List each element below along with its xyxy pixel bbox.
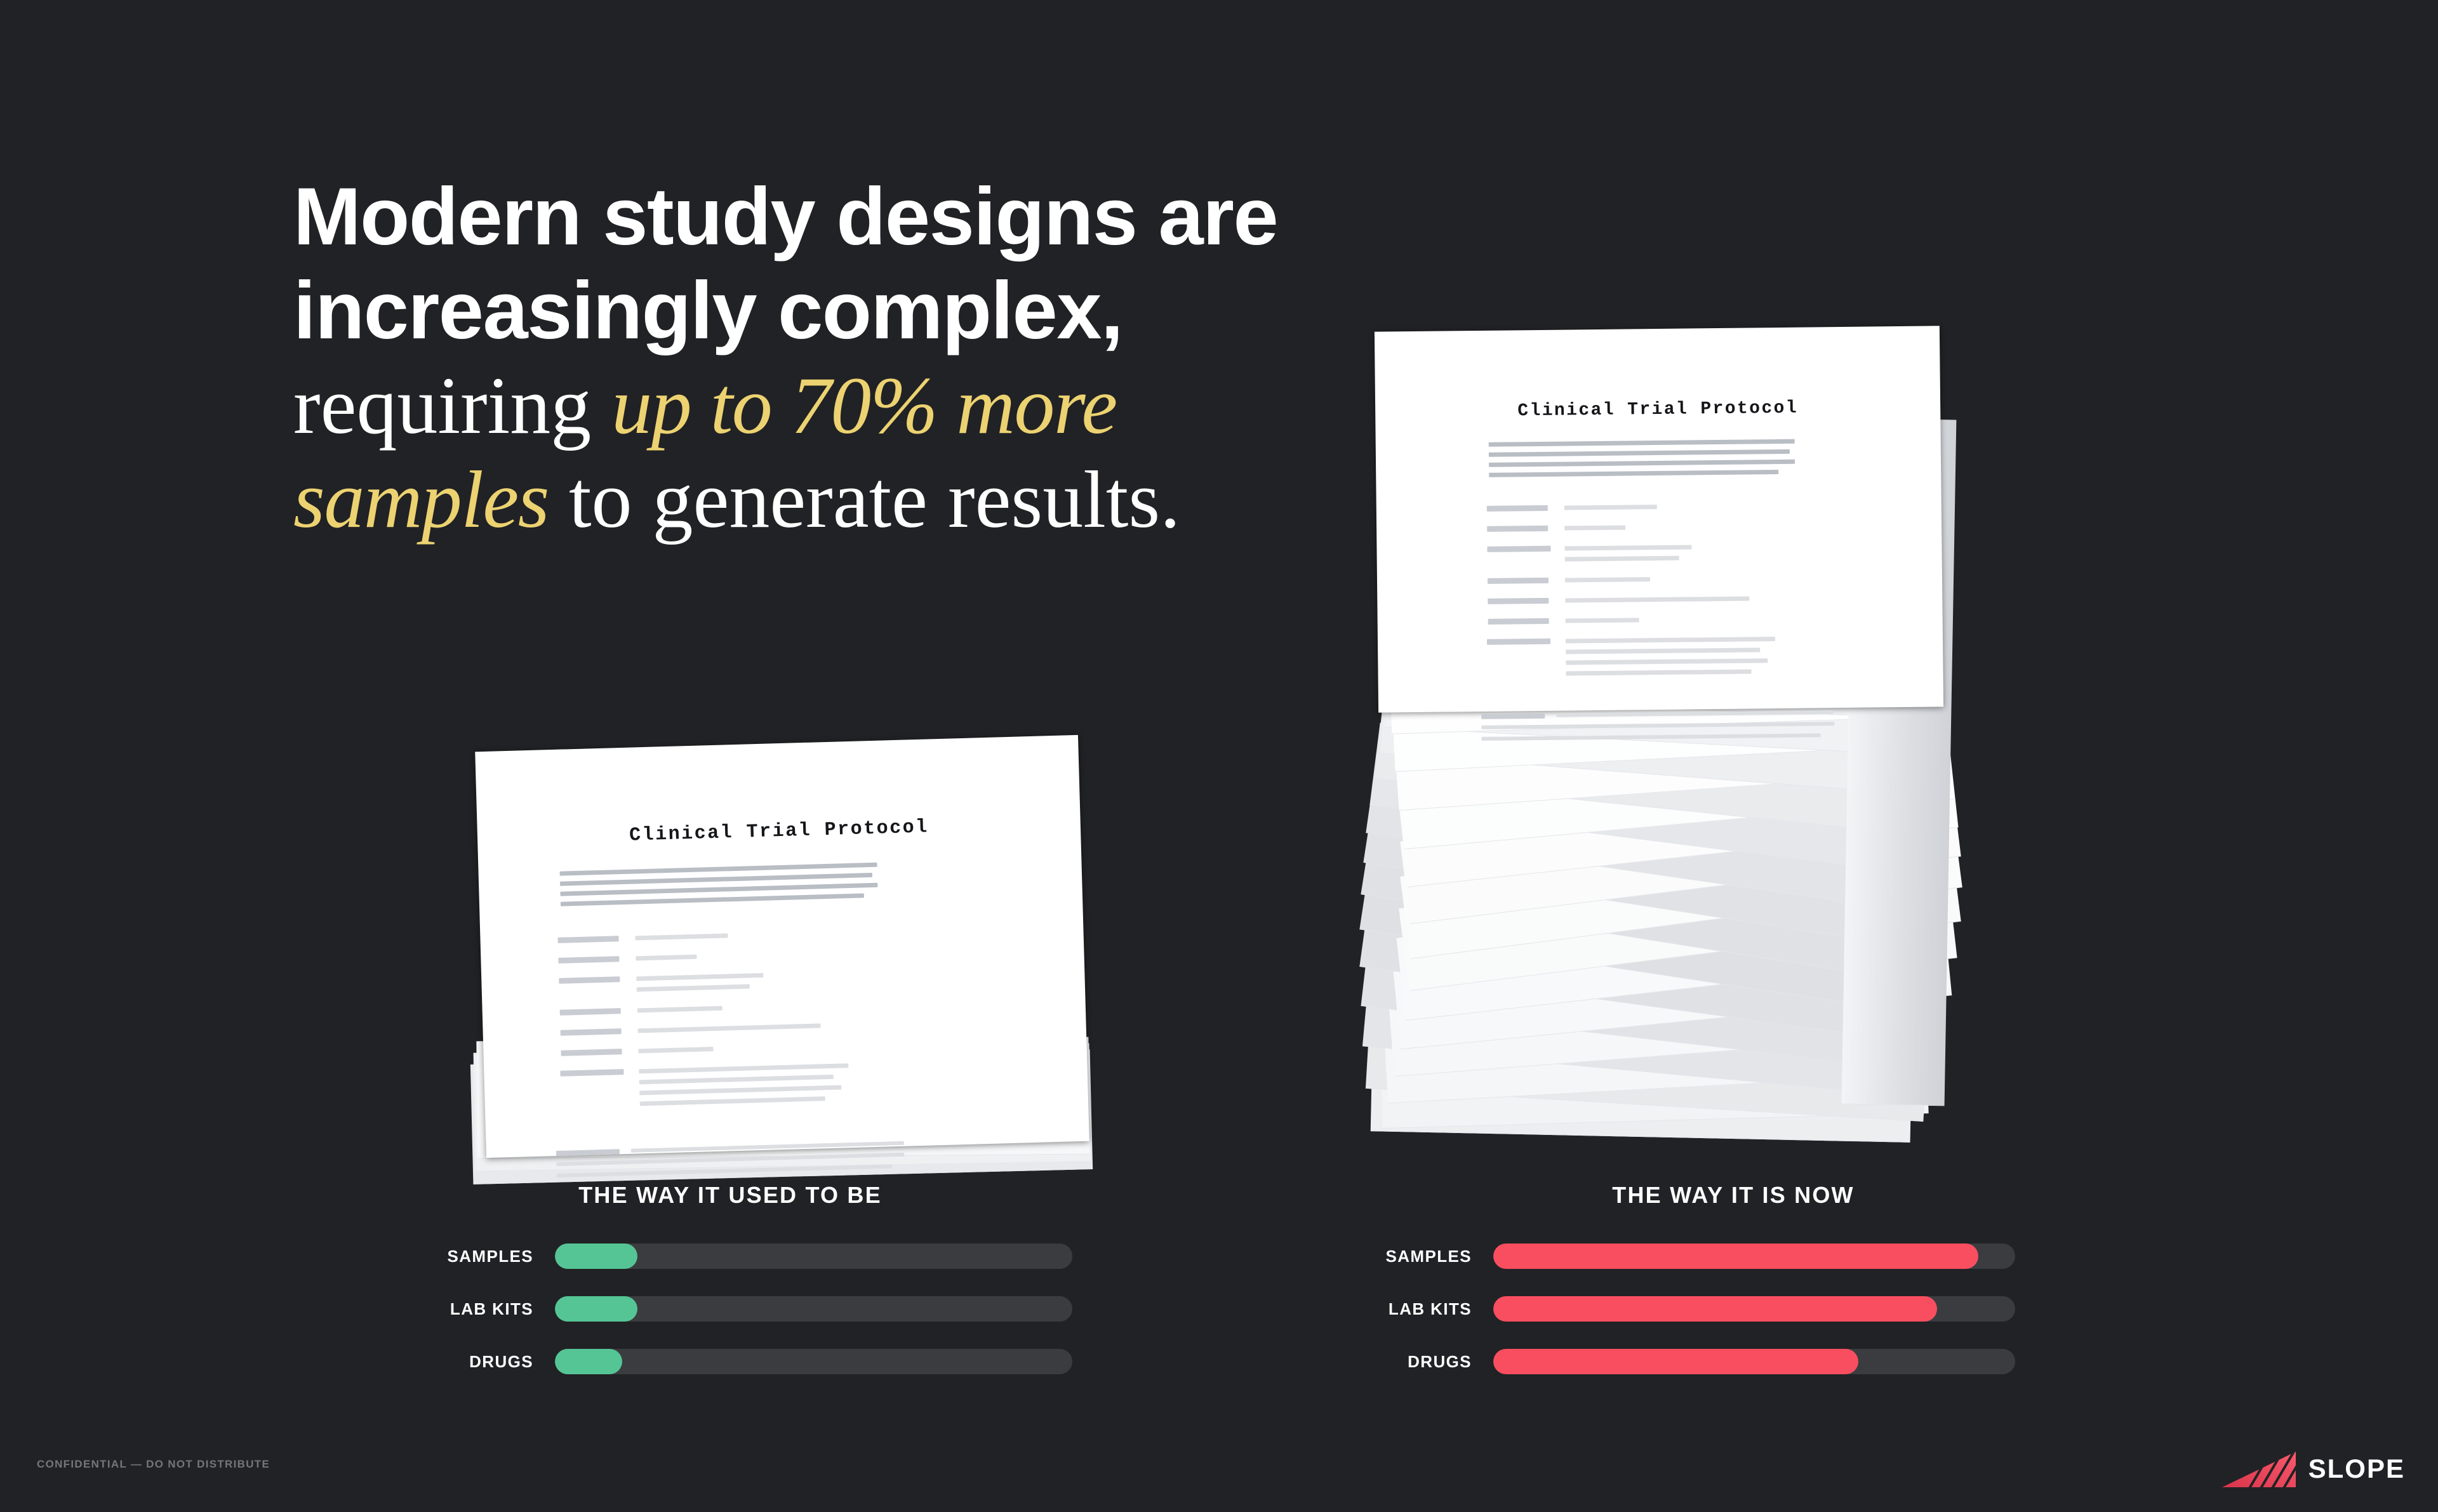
metric-row: DRUGS	[406, 1348, 1072, 1376]
document-field-key	[557, 936, 618, 943]
document-footer-key	[1481, 713, 1545, 719]
brand-logo: SLOPE	[2221, 1449, 2405, 1489]
metric-track[interactable]	[1493, 1243, 2015, 1269]
document-field-key	[560, 1069, 623, 1077]
metric-label: SAMPLES	[406, 1247, 555, 1266]
headline-accent-percent: up to 70% more	[611, 361, 1117, 451]
brand-name: SLOPE	[2308, 1454, 2405, 1484]
document-field-value	[639, 1075, 834, 1085]
confidential-notice: CONFIDENTIAL — DO NOT DISTRIBUTE	[37, 1458, 270, 1471]
headline-line-2-text: increasingly complex,	[293, 265, 1122, 356]
document-field-value	[1566, 647, 1760, 654]
headline-line-2: increasingly complex,	[293, 264, 1322, 358]
document-field-key	[559, 976, 620, 984]
document-stack-tall: Clinical Trial Protocol	[1346, 324, 2159, 1143]
protocol-document-top: Clinical Trial Protocol	[1375, 326, 1943, 712]
document-field-value	[635, 933, 728, 940]
document-field-key	[1487, 546, 1550, 552]
document-text-line	[561, 893, 864, 906]
headline-line-4: samples to generate results.	[293, 453, 1322, 547]
document-field-value	[1564, 526, 1625, 531]
headline-line-3-prefix: requiring	[293, 361, 611, 451]
metric-label: DRUGS	[406, 1352, 555, 1372]
metric-fill	[555, 1243, 637, 1269]
metric-fill	[1493, 1349, 1858, 1374]
metric-fill	[555, 1296, 637, 1322]
document-title: Clinical Trial Protocol	[477, 812, 1081, 851]
document-field-key	[1487, 639, 1550, 645]
protocol-document-top: Clinical Trial Protocol	[475, 735, 1089, 1158]
document-field-value	[1564, 545, 1691, 550]
document-text-line	[1489, 470, 1778, 477]
slope-mark-icon	[2221, 1449, 2297, 1489]
document-field-value	[639, 1063, 848, 1073]
headline-line-1: Modern study designs are	[293, 170, 1322, 264]
document-field-value	[1565, 556, 1679, 562]
metric-fill	[1493, 1243, 1978, 1269]
document-title: Clinical Trial Protocol	[1375, 397, 1940, 422]
metric-label: LAB KITS	[406, 1299, 555, 1319]
document-field-key	[1488, 598, 1549, 604]
document-field-key	[561, 1028, 622, 1036]
metric-label: LAB KITS	[1345, 1299, 1493, 1319]
document-text-line	[1489, 439, 1795, 447]
headline-line-4-suffix: to generate results.	[549, 454, 1180, 545]
metric-track[interactable]	[1493, 1296, 2015, 1322]
document-field-value	[1566, 637, 1775, 643]
document-field-value	[636, 973, 763, 981]
metric-row: SAMPLES	[1345, 1242, 2015, 1270]
document-field-key	[561, 1049, 622, 1056]
metric-row: DRUGS	[1345, 1348, 2015, 1376]
document-field-value	[1565, 577, 1650, 582]
document-field-value	[1566, 669, 1752, 675]
headline-line-1-text: Modern study designs are	[293, 171, 1277, 262]
metric-row: LAB KITS	[406, 1295, 1072, 1323]
document-field-key	[1488, 618, 1549, 625]
document-field-value	[637, 984, 750, 991]
document-field-key	[1488, 578, 1549, 584]
document-stack-small: Clinical Trial Protocol	[467, 739, 1114, 1133]
panel-caption-present: THE WAY IT IS NOW	[1416, 1182, 2051, 1209]
metric-row: LAB KITS	[1345, 1295, 2015, 1323]
metric-label: SAMPLES	[1345, 1247, 1493, 1266]
metric-track[interactable]	[1493, 1349, 2015, 1374]
headline-accent-samples: samples	[293, 454, 549, 545]
metric-track[interactable]	[555, 1296, 1072, 1322]
document-field-key	[1487, 505, 1548, 512]
page-title: Modern study designs are increasingly co…	[293, 170, 1322, 547]
document-field-key	[558, 956, 619, 964]
headline-line-3: requiring up to 70% more	[293, 359, 1322, 453]
metric-label: DRUGS	[1345, 1352, 1493, 1372]
document-field-key	[560, 1008, 621, 1016]
metric-track[interactable]	[555, 1349, 1072, 1374]
presentation-slide: Modern study designs are increasingly co…	[0, 0, 2438, 1512]
document-field-value	[640, 1096, 825, 1106]
document-field-value	[638, 1047, 713, 1053]
document-field-value	[638, 1023, 821, 1033]
metric-fill	[1493, 1296, 1937, 1322]
document-field-key	[1487, 526, 1548, 532]
panel-caption-past: THE WAY IT USED TO BE	[413, 1182, 1048, 1209]
document-text-line	[1489, 449, 1790, 457]
document-field-value	[1566, 618, 1639, 623]
document-field-value	[1564, 505, 1657, 510]
document-text-line	[1489, 460, 1795, 467]
document-field-value	[639, 1085, 841, 1095]
metric-track[interactable]	[555, 1243, 1072, 1269]
document-field-value	[1565, 597, 1749, 603]
metric-fill	[555, 1349, 622, 1374]
document-field-value	[636, 955, 696, 961]
document-field-value	[1566, 658, 1768, 665]
document-field-value	[637, 1006, 723, 1013]
metric-row: SAMPLES	[406, 1242, 1072, 1270]
